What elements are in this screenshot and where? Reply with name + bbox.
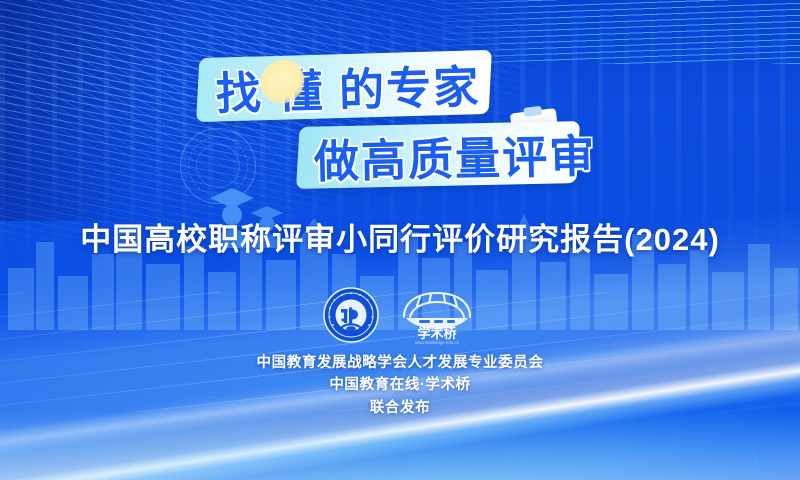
acabridge-logo: 学术桥 www.acabridge.edu.cn: [397, 287, 477, 343]
publisher-line-1: 中国教育发展战略学会人才发展专业委员会: [0, 352, 800, 374]
logo-row: 学术桥 www.acabridge.edu.cn: [0, 284, 800, 346]
publisher-block: 中国教育发展战略学会人才发展专业委员会 中国教育在线·学术桥 联合发布: [0, 352, 800, 419]
headline-line-1: 找 懂 的专家: [215, 50, 481, 122]
poster-root: 找 懂 的专家 做高质量评审: [0, 0, 800, 480]
background-bottom-glow: [0, 410, 800, 480]
headline-group: 找 懂 的专家 做高质量评审: [0, 46, 800, 206]
headline-line-2: 做高质量评审: [313, 119, 597, 190]
publisher-line-3: 联合发布: [0, 397, 800, 419]
report-subtitle: 中国高校职称评审小同行评价研究报告(2024): [0, 214, 800, 259]
headline-banner-secondary: 做高质量评审: [296, 121, 580, 189]
acabridge-url-text: www.acabridge.edu.cn: [415, 340, 460, 345]
committee-seal-logo: [323, 287, 379, 343]
publisher-line-2: 中国教育在线·学术桥: [0, 374, 800, 396]
headline-banner-primary: 找 懂 的专家: [196, 50, 492, 122]
